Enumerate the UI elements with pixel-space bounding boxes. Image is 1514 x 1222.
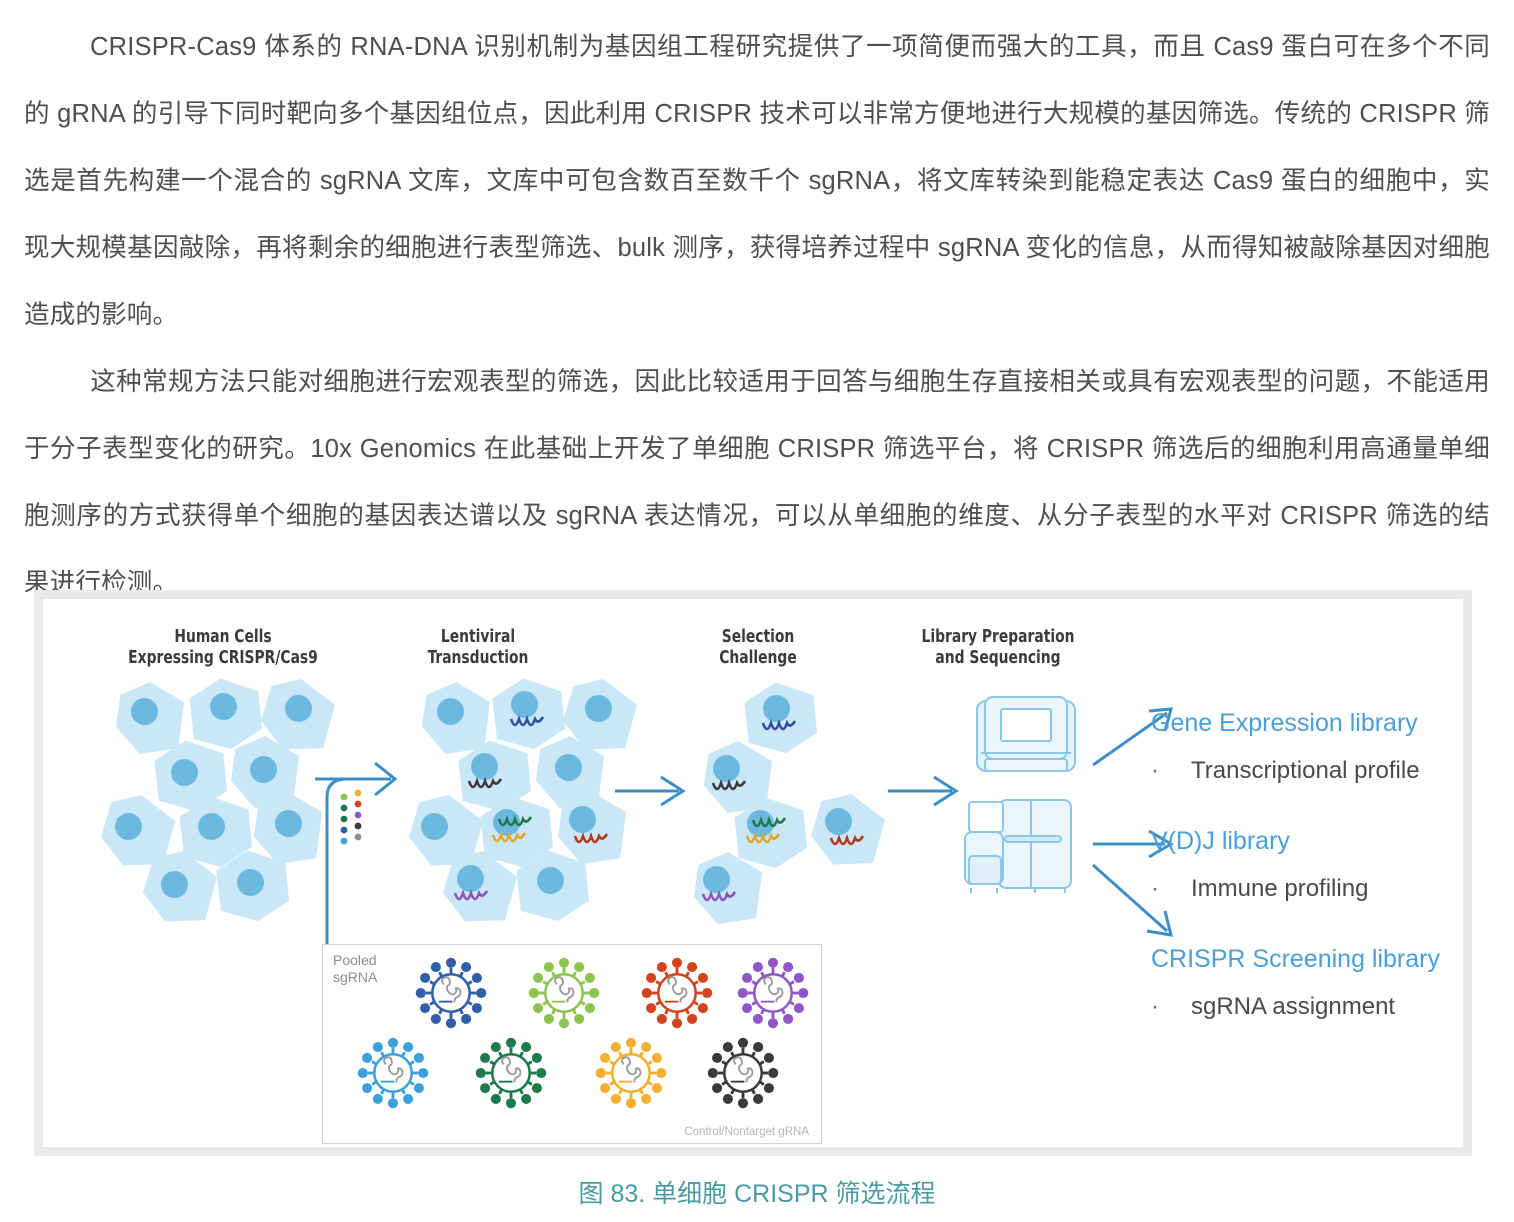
cell-nucleus	[237, 869, 264, 896]
bullet-dot-icon: ·	[1151, 875, 1191, 903]
cell-nucleus	[115, 813, 142, 840]
virus-particle-orange	[595, 1037, 667, 1109]
sgrna-squiggle-green	[497, 815, 541, 831]
sgrna-squiggle-purple	[453, 889, 493, 905]
cell-nucleus	[161, 871, 188, 898]
cell-nucleus	[437, 698, 464, 725]
cell-nucleus	[555, 754, 582, 781]
cell-nucleus	[471, 753, 498, 780]
sgrna-squiggle-red	[829, 834, 869, 850]
cell-nucleus	[421, 813, 448, 840]
output-bullet-sgrna-assignment: ·sgRNA assignment	[1151, 993, 1395, 1021]
output-title-gene-expression: Gene Expression library	[1151, 709, 1418, 738]
sgrna-squiggle-black	[467, 777, 507, 793]
pooled-sgrna-arrow-icon	[313, 759, 423, 959]
output-bullet-immune-profiling: ·Immune profiling	[1151, 875, 1368, 903]
pooled-sgrna-box: Pooled sgRNA Control/Nontarget gRNA	[322, 944, 822, 1144]
cell	[491, 677, 565, 749]
arrow-to-library-prep-icon	[886, 774, 966, 808]
cell-nucleus	[703, 866, 730, 893]
sgrna-squiggle-blue	[761, 719, 801, 735]
cell	[188, 677, 262, 749]
pooled-sgrna-label: Pooled sgRNA	[333, 952, 377, 986]
control-nontarget-grna-label: Control/Nontarget gRNA	[684, 1126, 809, 1138]
sgrna-squiggle-purple	[701, 890, 741, 906]
bullet-dot-icon: ·	[1151, 757, 1191, 785]
paragraph-2: 这种常规方法只能对细胞进行宏观表型的筛选，因此比较适用于回答与细胞生存直接相关或…	[24, 349, 1490, 617]
virus-particle-red	[641, 957, 713, 1029]
output-title-crispr-screening: CRISPR Screening library	[1151, 945, 1440, 974]
cell-nucleus	[198, 813, 225, 840]
cell	[743, 681, 817, 753]
cell	[691, 852, 765, 924]
figure-canvas: Human Cells Expressing CRISPR/Cas9 Lenti…	[43, 599, 1463, 1147]
figure-heading-lentiviral-transduction: Lentiviral Transduction	[390, 627, 566, 669]
figure-frame: Human Cells Expressing CRISPR/Cas9 Lenti…	[34, 590, 1472, 1156]
virus-particle-purple	[737, 957, 809, 1029]
figure-heading-library-prep: Library Preparation and Sequencing	[884, 627, 1113, 669]
sequencer-icon	[961, 796, 1081, 898]
output-bullet-transcriptional-profile: ·Transcriptional profile	[1151, 757, 1420, 785]
cell-nucleus	[457, 865, 484, 892]
figure-heading-human-cells: Human Cells Expressing CRISPR/Cas9	[91, 627, 355, 669]
sgrna-squiggle-yellow	[491, 831, 539, 847]
cell-nucleus	[511, 691, 538, 718]
cell-nucleus	[285, 695, 312, 722]
cell-nucleus	[171, 759, 198, 786]
virus-particle-black-control	[707, 1037, 779, 1109]
figure-caption: 图 83. 单细胞 CRISPR 筛选流程	[0, 1174, 1514, 1210]
cell-nucleus	[713, 755, 740, 782]
output-bullet-text: sgRNA assignment	[1191, 993, 1395, 1020]
paragraph-1: CRISPR-Cas9 体系的 RNA-DNA 识别机制为基因组工程研究提供了一…	[24, 0, 1490, 349]
output-title-vdj: V(D)J library	[1151, 827, 1290, 856]
sgrna-squiggle-yellow	[745, 832, 793, 848]
sgrna-squiggle-black	[711, 779, 751, 795]
figure-heading-selection-challenge: Selection Challenge	[674, 627, 841, 669]
paragraph-1-text: CRISPR-Cas9 体系的 RNA-DNA 识别机制为基因组工程研究提供了一…	[24, 33, 1490, 329]
cell-nucleus	[569, 806, 596, 833]
cell	[419, 682, 493, 754]
cell-nucleus	[825, 808, 852, 835]
cell	[113, 682, 187, 754]
cell-nucleus	[585, 695, 612, 722]
chromium-controller-icon	[971, 695, 1081, 785]
cell-nucleus	[210, 693, 237, 720]
virus-particle-dark-green	[475, 1037, 547, 1109]
output-bullet-text: Transcriptional profile	[1191, 757, 1420, 784]
cell-nucleus	[131, 698, 158, 725]
virus-particle-blue	[415, 957, 487, 1029]
paragraph-2-text: 这种常规方法只能对细胞进行宏观表型的筛选，因此比较适用于回答与细胞生存直接相关或…	[24, 368, 1490, 597]
cell-nucleus	[763, 695, 790, 722]
sgrna-squiggle-red	[573, 832, 613, 848]
output-bullet-text: Immune profiling	[1191, 875, 1368, 902]
arrow-to-selection-icon	[613, 774, 693, 808]
cell-nucleus	[537, 867, 564, 894]
cell	[811, 794, 885, 866]
document-body: CRISPR-Cas9 体系的 RNA-DNA 识别机制为基因组工程研究提供了一…	[24, 0, 1490, 617]
sgrna-squiggle-green	[751, 816, 795, 832]
bullet-dot-icon: ·	[1151, 993, 1191, 1021]
cell-nucleus	[250, 756, 277, 783]
virus-particle-light-blue	[357, 1037, 429, 1109]
cell	[261, 679, 335, 751]
sgrna-squiggle-blue	[509, 715, 549, 731]
virus-particle-light-green	[528, 957, 600, 1029]
cell-nucleus	[275, 810, 302, 837]
